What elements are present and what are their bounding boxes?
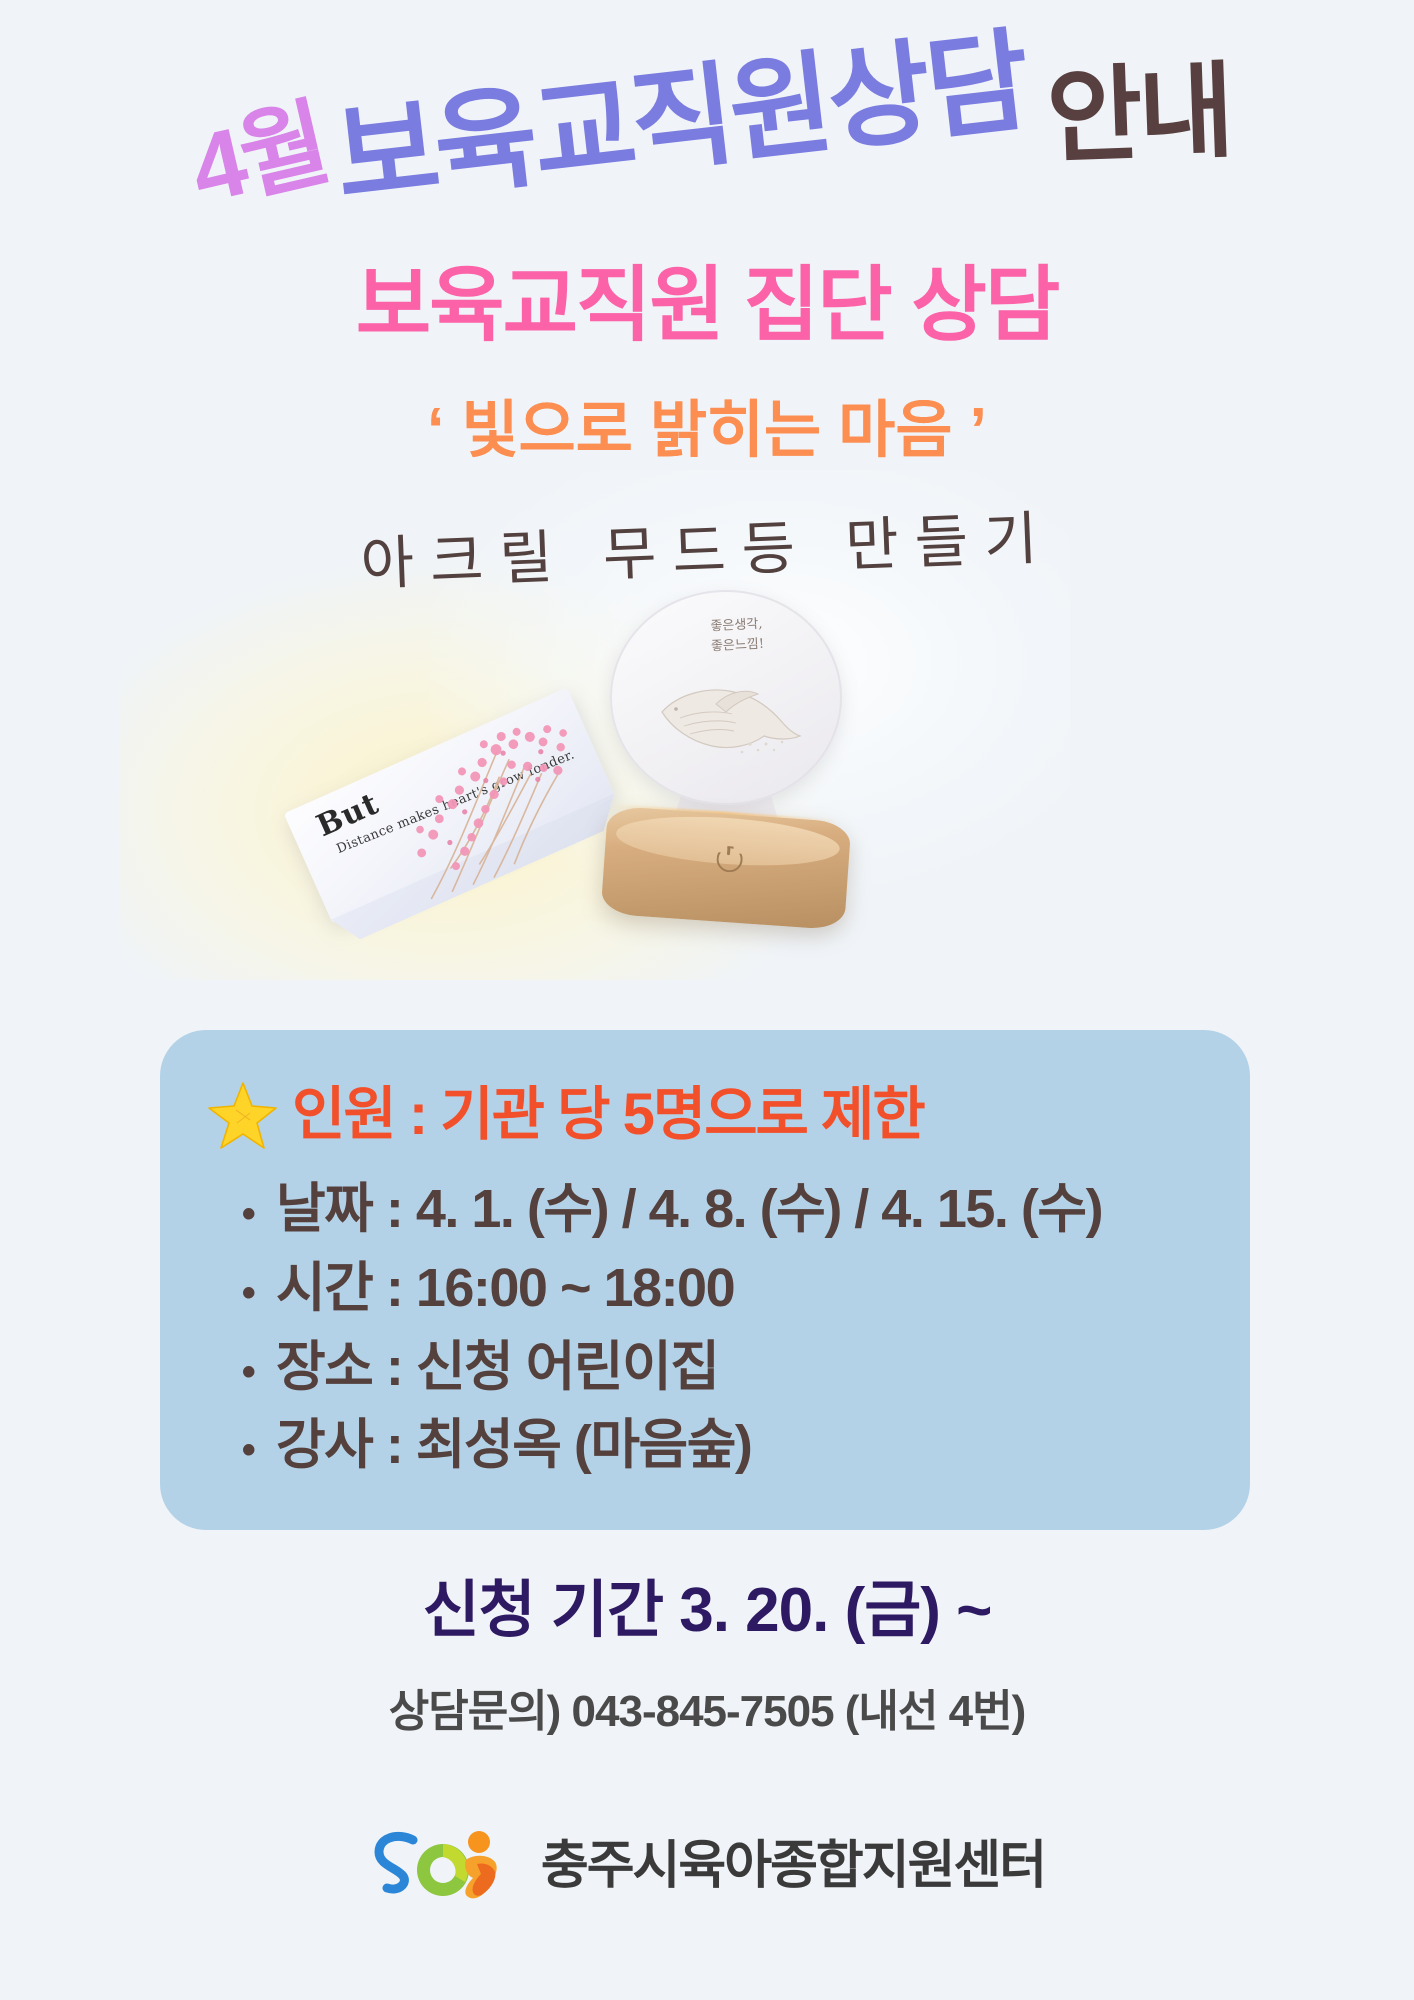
- info-item-label: 장소 : 신청 어린이집: [276, 1328, 718, 1407]
- list-item: • 날짜 : 4. 1. (수) / 4. 8. (수) / 4. 15. (수…: [220, 1170, 1230, 1249]
- application-period: 신청 기간 3. 20. (금) ~: [0, 1580, 1414, 1642]
- title-month: 4월: [182, 95, 334, 219]
- list-item: • 강사 : 최성옥 (마음숲): [220, 1406, 1230, 1485]
- bullet-icon: •: [220, 1185, 276, 1243]
- info-list: • 날짜 : 4. 1. (수) / 4. 8. (수) / 4. 15. (수…: [220, 1170, 1230, 1485]
- brand-footer: 충주시육아종합지원센터: [0, 1820, 1414, 1912]
- poster-root: 4월보육교직원상담안내 보육교직원 집단 상담 ‘ 빛으로 밝히는 마음 ’ 아…: [0, 0, 1414, 2000]
- lamp-disc-text: 좋은생각, 좋은느낌!: [661, 612, 813, 659]
- lamp-acrylic-disc: 좋은생각, 좋은느낌!: [610, 590, 842, 805]
- whale-engraving-icon: [654, 668, 804, 760]
- list-item: • 장소 : 신청 어린이집: [220, 1328, 1230, 1407]
- acrylic-mood-lamp: 좋은생각, 좋은느낌!: [590, 590, 870, 970]
- bullet-icon: •: [220, 1264, 276, 1322]
- lamp-wooden-base: [601, 806, 852, 931]
- sc-logo-icon: [369, 1820, 519, 1912]
- title-tail: 안내: [1045, 60, 1232, 170]
- poster-quote: ‘ 빛으로 밝히는 마음 ’: [0, 400, 1414, 462]
- info-item-label: 강사 : 최성옥 (마음숲): [276, 1406, 751, 1485]
- brand-name: 충주시육아종합지원센터: [541, 1840, 1045, 1892]
- info-item-label: 시간 : 16:00 ~ 18:00: [276, 1249, 734, 1328]
- bullet-icon: •: [220, 1421, 276, 1479]
- info-headline: 인원 : 기관 당 5명으로 제한: [292, 1082, 924, 1149]
- poster-title: 4월보육교직원상담안내: [0, 62, 1414, 252]
- title-main: 보육교직원상담: [330, 25, 1032, 215]
- list-item: • 시간 : 16:00 ~ 18:00: [220, 1249, 1230, 1328]
- info-item-label: 날짜 : 4. 1. (수) / 4. 8. (수) / 4. 15. (수): [276, 1170, 1102, 1249]
- info-panel: 인원 : 기관 당 5명으로 제한 • 날짜 : 4. 1. (수) / 4. …: [160, 1030, 1250, 1530]
- product-photo: But Distance makes heart's grow fonder.: [300, 600, 1000, 1000]
- star-icon: [206, 1080, 280, 1152]
- contact-info: 상담문의) 043-845-7505 (내선 4번): [0, 1690, 1414, 1734]
- poster-subtitle: 보육교직원 집단 상담: [0, 265, 1414, 347]
- bullet-icon: •: [220, 1343, 276, 1401]
